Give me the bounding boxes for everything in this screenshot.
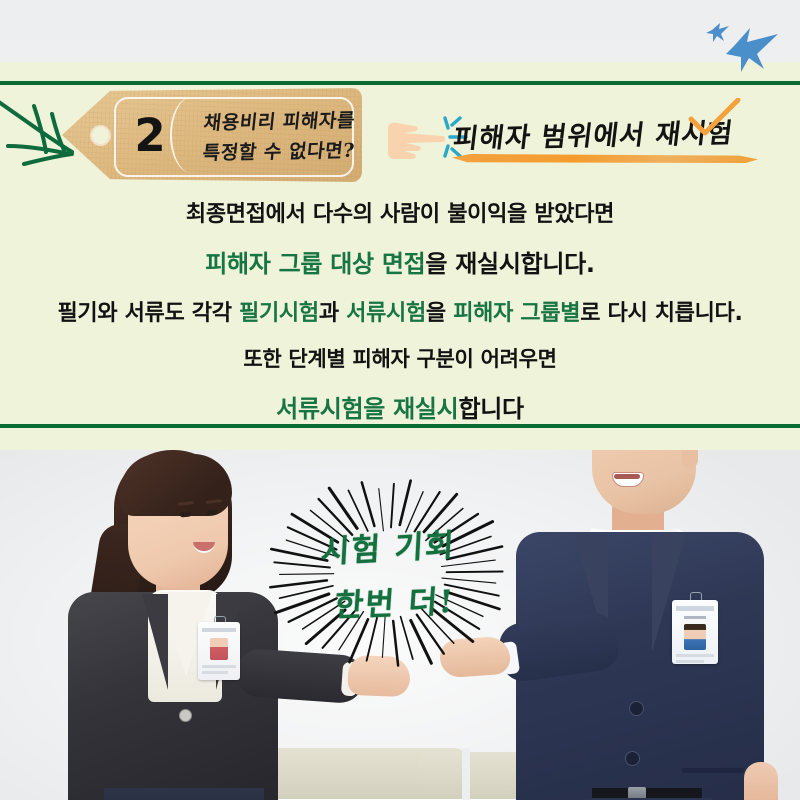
copy-line-2-highlight: 피해자 그룹 대상 면접	[205, 250, 425, 278]
copy-line-2-rest: 을 재실시합니다.	[425, 250, 594, 278]
numbered-kraft-tag: 2 채용비리 피해자를 특정할 수 없다면?	[62, 88, 362, 182]
man-jacket-button-bottom	[626, 752, 639, 765]
copy-line-5-highlight: 서류시험을 재실시	[276, 395, 458, 423]
copy-line-4: 또한 단계별 피해자 구분이 어려우면	[243, 343, 556, 373]
handwriting-line-1: 시험 기회	[319, 519, 456, 571]
copy-line-5-rest: 합니다	[458, 395, 523, 423]
tag-question-line-2: 특정할 수 없다면?	[202, 135, 357, 165]
woman-badge-header	[202, 628, 236, 632]
copy-line-3-a: 필기와 서류도 각각	[57, 301, 239, 326]
tag-question-line-1: 채용비리 피해자를	[202, 105, 356, 135]
headline-underline	[452, 154, 758, 163]
woman-jacket-button	[180, 710, 191, 721]
tag-eyelet-hole	[92, 127, 109, 144]
divider-rule-bottom	[0, 424, 800, 428]
woman-badge-line-1	[202, 665, 236, 668]
headline-block: 피해자 범위에서 재시험	[388, 104, 788, 170]
orange-checkmark-icon	[688, 98, 742, 138]
copy-line-5: 서류시험을 재실시합니다	[276, 389, 524, 424]
infographic-card: {"n":46,"cx":120,"cy":95,"r1":46,"r2":92…	[0, 0, 800, 800]
copy-line-3-highlight-1: 필기시험	[239, 301, 319, 326]
copy-line-3-b: 과	[319, 301, 346, 326]
copy-line-2: 피해자 그룹 대상 면접을 재실시합니다.	[205, 244, 595, 279]
copy-line-3: 필기와 서류도 각각 필기시험과 서류시험을 피해자 그룹별로 다시 치릅니다.	[57, 295, 742, 327]
woman-hair-front	[120, 454, 232, 516]
man-mouth-inner	[614, 474, 640, 479]
man-badge-line-2	[676, 660, 704, 663]
copy-line-3-d: 로 다시 치릅니다.	[580, 301, 742, 326]
man-badge-header	[676, 606, 714, 611]
chair-gap	[462, 748, 470, 800]
man-badge-photo	[684, 624, 706, 650]
body-copy-block: 최종면접에서 다수의 사람이 불이익을 받았다면 피해자 그룹 대상 면접을 재…	[0, 196, 800, 406]
copy-line-3-c: 을	[426, 301, 453, 326]
man-jacket-pocket	[682, 768, 744, 773]
tag-arc-divider	[170, 97, 206, 173]
woman-badge-photo	[210, 638, 228, 660]
tag-step-number: 2	[128, 104, 172, 166]
woman-badge-line-2	[202, 671, 228, 674]
handwriting-line-2: 한번 더!	[333, 576, 456, 625]
man-badge-line-1	[676, 654, 714, 657]
woman-skirt	[104, 788, 264, 800]
copy-line-1: 최종면접에서 다수의 사람이 불이익을 받았다면	[186, 196, 614, 228]
two-swallow-birds-icon	[700, 14, 786, 76]
man-right-hand	[744, 762, 778, 800]
woman-lapel-left	[142, 594, 168, 690]
man-jacket-button-top	[630, 702, 643, 715]
man-badge-name	[684, 616, 706, 619]
copy-line-3-highlight-3: 피해자 그룹별	[453, 301, 580, 326]
copy-line-3-highlight-2: 서류시험	[346, 301, 426, 326]
tag-question-text: 채용비리 피해자를 특정할 수 없다면?	[204, 100, 354, 170]
handwritten-note: 시험 기회 한번 더!	[268, 478, 508, 668]
